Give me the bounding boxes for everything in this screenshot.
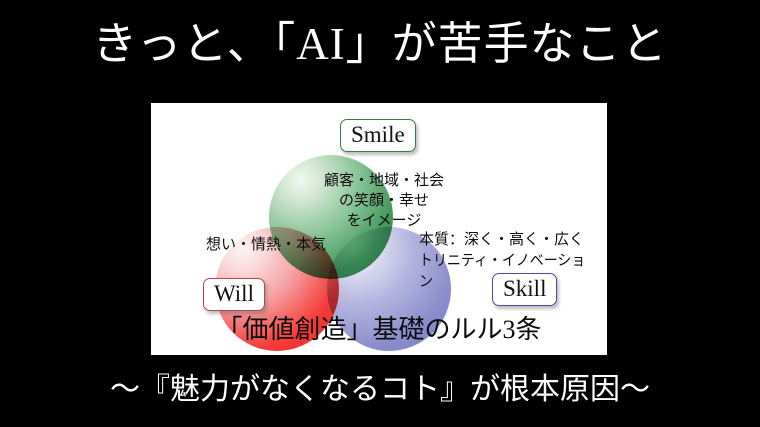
annotation-will: 想い・情熱・本気 [206, 235, 326, 255]
diagram-caption: 「価値創造」基礎のルル3条 [151, 313, 607, 347]
annotation-smile-line-1: 顧客・地域・社会 [324, 173, 444, 189]
venn-label-will: Will [203, 278, 265, 311]
annotation-skill-line-1: 本質：深く・高く・広く [419, 232, 584, 248]
annotation-smile-line-3: をイメージ [347, 213, 422, 229]
page-subtitle: 〜『魅力がなくなるコト』が根本原因〜 [0, 370, 760, 410]
slide-canvas: きっと、「AI」が苦手なこと 顧客・地域・社会 の笑顔・幸せ をイメージ 想い・… [0, 0, 760, 427]
venn-diagram-panel: 顧客・地域・社会 の笑顔・幸せ をイメージ 想い・情熱・本気 本質：深く・高く・… [151, 103, 607, 355]
page-title: きっと、「AI」が苦手なこと [0, 14, 760, 74]
venn-label-smile: Smile [340, 119, 416, 152]
annotation-smile-line-2: の笑顔・幸せ [339, 193, 429, 209]
venn-label-skill: Skill [492, 273, 557, 306]
annotation-smile: 顧客・地域・社会 の笑顔・幸せ をイメージ [319, 171, 449, 231]
